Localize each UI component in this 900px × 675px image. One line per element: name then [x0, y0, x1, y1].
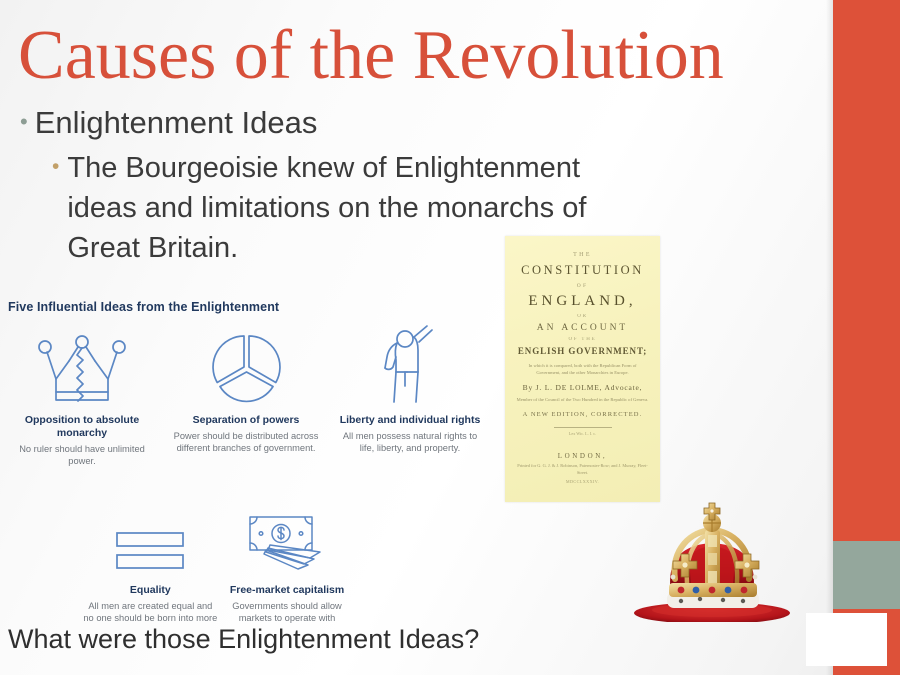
slide-title: Causes of the Revolution	[18, 12, 808, 100]
infographic-item: Free-market capitalism Governments shoul…	[219, 494, 356, 624]
book-line-city: LONDON,	[505, 452, 660, 460]
book-line-epigraph: Lex Wic. L. I. c.	[505, 431, 660, 436]
bullet-level-1-text: Enlightenment Ideas	[35, 102, 318, 144]
infographic-item: Liberty and individual rights All men po…	[328, 324, 492, 467]
book-line-of-the: OF THE	[505, 337, 660, 342]
equals-sign-icon	[115, 494, 185, 574]
book-line-an-account: AN ACCOUNT	[505, 323, 660, 333]
book-line-english-government: ENGLISH GOVERNMENT;	[505, 346, 660, 356]
infographic-item: Opposition to absolute monarchy No ruler…	[0, 324, 164, 467]
infographic-item-heading: Free-market capitalism	[230, 584, 344, 597]
book-line-membership: Member of the Council of the Two Hundred…	[505, 396, 660, 403]
divided-pie-icon	[210, 324, 282, 404]
british-royal-crown-photo	[605, 497, 820, 622]
bullet-dot-icon: •	[20, 102, 28, 142]
book-line-blurb: In which it is compared, both with the R…	[505, 362, 660, 376]
presentation-slide: Causes of the Revolution • Enlightenment…	[0, 0, 900, 675]
infographic-item: Equality All men are created equal and n…	[82, 494, 219, 624]
book-line-imprint: Printed for G. G. J. & J. Robinson, Pate…	[505, 463, 660, 476]
book-line-year: MDCCLXXXIV.	[505, 479, 660, 484]
infographic-item-heading: Separation of powers	[193, 414, 300, 427]
infographic-item-body: Governments should allow markets to oper…	[219, 600, 356, 624]
book-line-or: OR	[505, 314, 660, 319]
enlightenment-infographic: Five Influential Ideas from the Enlighte…	[0, 296, 492, 614]
infographic-row-bottom: Equality All men are created equal and n…	[0, 494, 492, 624]
bullet-dot-icon: •	[52, 148, 59, 186]
cracked-crown-icon	[36, 324, 128, 404]
bullet-level-1: • Enlightenment Ideas	[20, 102, 720, 144]
money-bills-icon	[244, 494, 330, 574]
book-line-edition: A NEW EDITION, CORRECTED.	[505, 411, 660, 418]
infographic-item-body: No ruler should have unlimited power.	[7, 443, 157, 467]
constitution-of-england-image: THE CONSTITUTION OF ENGLAND, OR AN ACCOU…	[505, 236, 660, 502]
person-raised-arm-icon	[381, 324, 439, 404]
book-line-the: THE	[505, 252, 660, 258]
infographic-item-body: Power should be distributed across diffe…	[171, 430, 321, 454]
infographic-item: Separation of powers Power should be dis…	[164, 324, 328, 467]
infographic-item-body: All men possess natural rights to life, …	[335, 430, 485, 454]
infographic-item-heading: Opposition to absolute monarchy	[0, 414, 164, 440]
infographic-row-top: Opposition to absolute monarchy No ruler…	[0, 324, 492, 467]
infographic-item-body: All men are created equal and no one sho…	[82, 600, 219, 624]
decor-band-green	[833, 541, 900, 609]
book-line-author: By J. L. DE LOLME, Advocate,	[505, 383, 660, 392]
infographic-item-heading: Liberty and individual rights	[340, 414, 481, 427]
infographic-item-heading: Equality	[130, 584, 171, 597]
infographic-title: Five Influential Ideas from the Enlighte…	[8, 300, 279, 314]
closing-question: What were those Enlightenment Ideas?	[8, 624, 479, 655]
book-line-of: OF	[505, 283, 660, 289]
book-divider-rule	[554, 427, 612, 428]
book-line-england: ENGLAND,	[505, 293, 660, 310]
book-title-page-text: THE CONSTITUTION OF ENGLAND, OR AN ACCOU…	[505, 252, 660, 484]
book-line-constitution: CONSTITUTION	[505, 263, 660, 278]
